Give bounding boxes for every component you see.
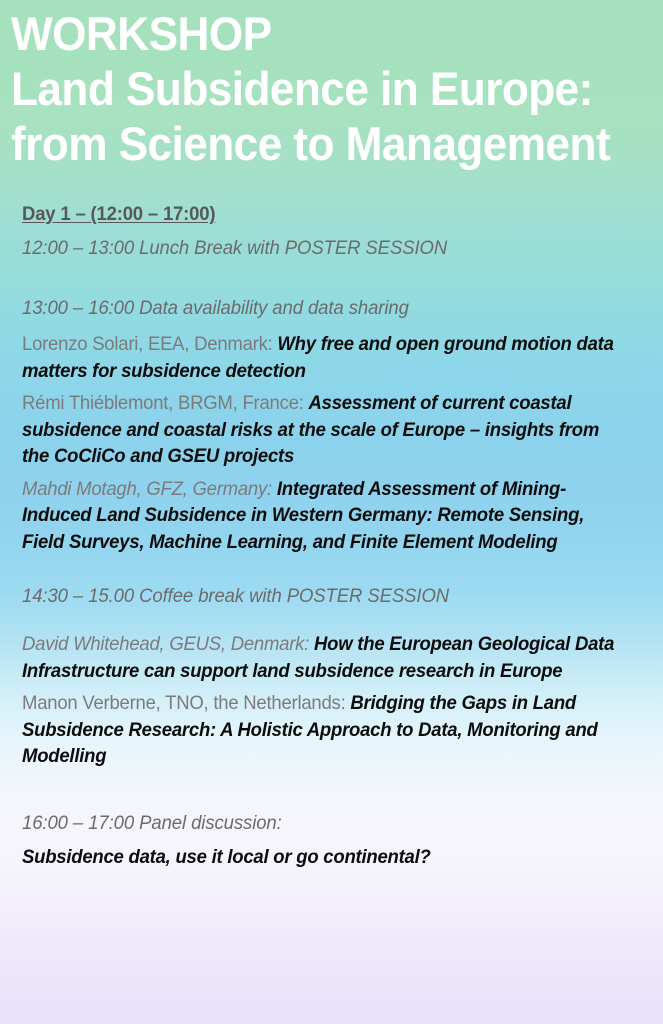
slot-lunch-break: 12:00 – 13:00 Lunch Break with POSTER SE…: [22, 235, 619, 261]
workshop-poster: WORKSHOP Land Subsidence in Europe: from…: [0, 0, 663, 1024]
talk-speaker: Manon Verberne, TNO, the Netherlands:: [22, 692, 350, 714]
spacer: [22, 561, 650, 583]
talk-speaker: Lorenzo Solari, EEA, Denmark:: [22, 333, 277, 355]
panel-discussion-question: Subsidence data, use it local or go cont…: [22, 846, 619, 869]
talk-entry: Mahdi Motagh, GFZ, Germany: Integrated A…: [22, 476, 619, 556]
talk-speaker: Mahdi Motagh, GFZ, Germany:: [22, 478, 277, 500]
talk-speaker: Rémi Thiéblemont, BRGM, France:: [22, 392, 308, 414]
talk-entry: Rémi Thiéblemont, BRGM, France: Assessme…: [22, 390, 619, 470]
day-heading: Day 1 – (12:00 – 17:00): [22, 203, 619, 226]
spacer: [22, 261, 650, 295]
poster-title-line-workshop: WORKSHOP: [11, 6, 620, 61]
talk-entry: Lorenzo Solari, EEA, Denmark: Why free a…: [22, 331, 619, 384]
poster-title-line-subject: Land Subsidence in Europe:: [11, 61, 620, 116]
spacer: [22, 321, 650, 331]
schedule-body: Day 1 – (12:00 – 17:00) 12:00 – 13:00 Lu…: [22, 203, 650, 869]
slot-panel-discussion: 16:00 – 17:00 Panel discussion:: [22, 810, 619, 836]
spacer: [22, 836, 650, 846]
slot-coffee-break: 14:30 – 15.00 Coffee break with POSTER S…: [22, 583, 619, 609]
poster-title-block: WORKSHOP Land Subsidence in Europe: from…: [11, 6, 659, 171]
talk-speaker: David Whitehead, GEUS, Denmark:: [22, 633, 314, 655]
poster-title-line-subtitle: from Science to Management: [11, 116, 620, 171]
spacer: [22, 609, 650, 631]
spacer: [22, 776, 650, 810]
talk-entry: Manon Verberne, TNO, the Netherlands: Br…: [22, 690, 619, 770]
talk-entry: David Whitehead, GEUS, Denmark: How the …: [22, 631, 619, 684]
slot-session-data-availability: 13:00 – 16:00 Data availability and data…: [22, 295, 619, 321]
